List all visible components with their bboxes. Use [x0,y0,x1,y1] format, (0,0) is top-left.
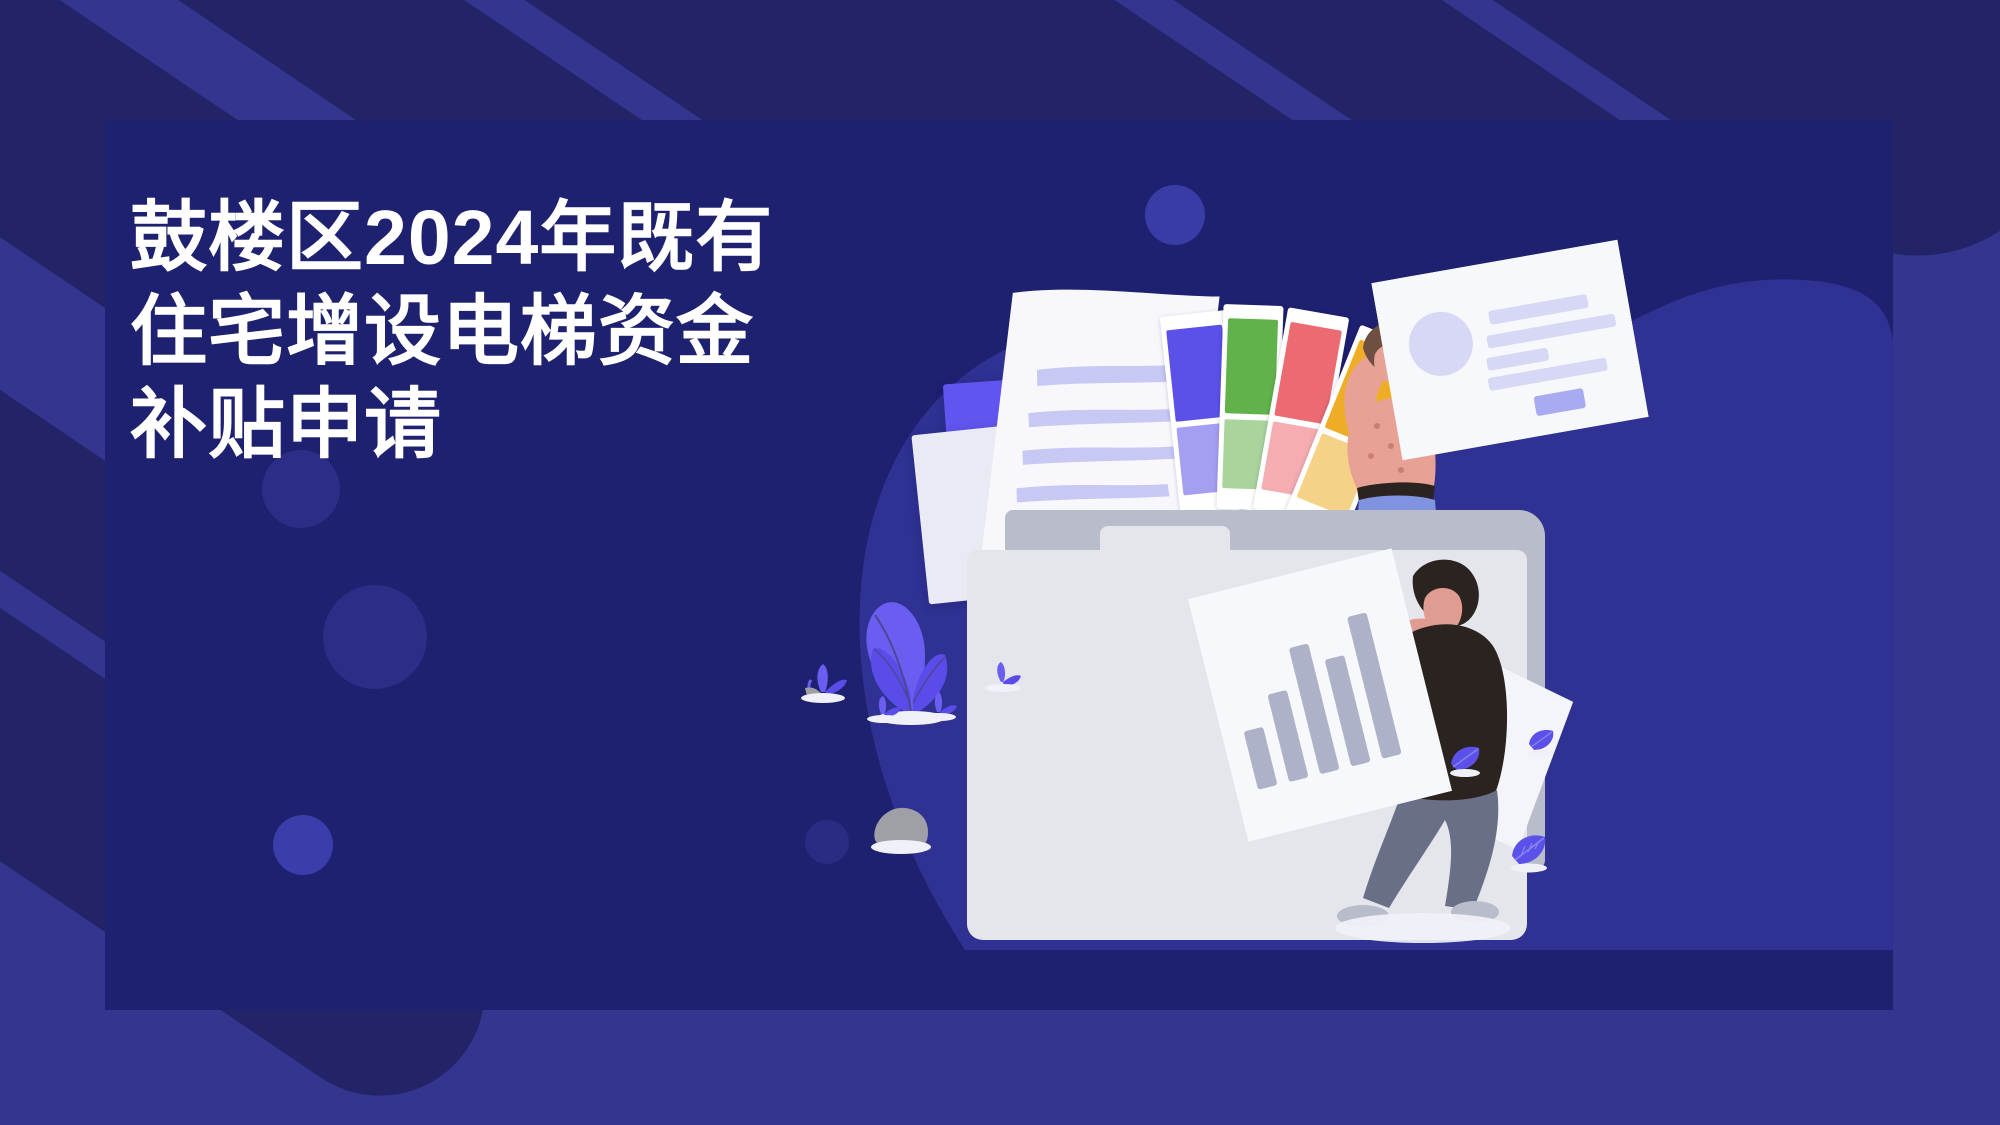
poster-canvas: 鼓楼区2024年既有 住宅增设电梯资金 补贴申请 [0,0,2000,1125]
leaf-shape [1447,742,1487,778]
plant-decoration [917,688,961,722]
file-upload-documents-illustration [705,130,1885,1010]
content-panel: 鼓楼区2024年既有 住宅增设电梯资金 补贴申请 [105,120,1893,1010]
decorative-dot [273,815,333,875]
plant-decoration [979,658,1027,694]
small-plant-shape [797,658,857,704]
leaf-shape [1525,726,1559,758]
leaf-decoration [1447,742,1487,778]
decorative-dot [323,585,427,689]
swatch-color-block [1225,319,1279,415]
small-plant-shape [979,658,1027,694]
rock-decoration [865,800,941,856]
rock-shape [865,800,941,856]
leaf-decoration [1525,726,1559,758]
small-plant-shape [917,688,961,722]
plant-decoration [863,692,907,724]
small-plant-shape [863,692,907,724]
leaf-decoration [1507,830,1555,874]
leaf-shape [1507,830,1555,874]
plant-decoration [797,658,857,704]
